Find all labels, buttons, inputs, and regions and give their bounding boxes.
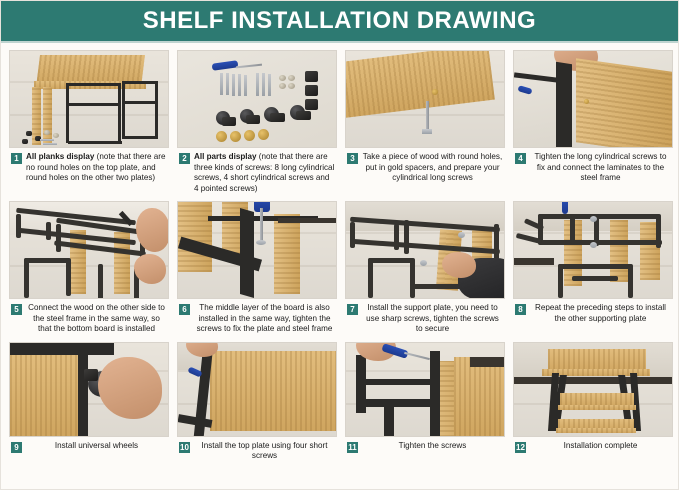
step-caption-5: 5 Connect the wood on the other side to … (9, 299, 169, 335)
step-caption-6: 6 The middle layer of the board is also … (177, 299, 337, 335)
step-photo-9 (9, 342, 169, 437)
step-text: The middle layer of the board is also in… (194, 303, 335, 335)
step-card-1: 1 All planks display (note that there ar… (9, 50, 169, 194)
step-caption-1: 1 All planks display (note that there ar… (9, 148, 169, 184)
step-card-3: 3 Take a piece of wood with round holes,… (345, 50, 505, 194)
step-number-badge: 9 (11, 442, 22, 453)
step-text: All planks display (note that there are … (26, 152, 167, 184)
instruction-sheet: SHELF INSTALLATION DRAWING (0, 0, 679, 490)
step-card-6: 6 The middle layer of the board is also … (177, 201, 337, 335)
step-number-badge: 7 (347, 304, 358, 315)
step-photo-1 (9, 50, 169, 148)
step-text: Install universal wheels (26, 441, 167, 452)
step-number-badge: 5 (11, 304, 22, 315)
step-caption-11: 11 Tighten the screws (345, 437, 505, 453)
step-caption-8: 8 Repeat the preceding steps to install … (513, 299, 673, 324)
step-card-2: 2 All parts display (note that there are… (177, 50, 337, 194)
step-photo-7 (345, 201, 505, 299)
step-photo-2 (177, 50, 337, 148)
step-photo-3 (345, 50, 505, 148)
step-text: Installation complete (530, 441, 671, 452)
step-number-badge: 1 (11, 153, 22, 164)
step-text: Install the support plate, you need to u… (362, 303, 503, 335)
step-card-10: 10 Install the top plate using four shor… (177, 342, 337, 462)
step-photo-11 (345, 342, 505, 437)
step-number-badge: 6 (179, 304, 190, 315)
step-caption-7: 7 Install the support plate, you need to… (345, 299, 505, 335)
step-text: Connect the wood on the other side to th… (26, 303, 167, 335)
steps-row-3: 9 Install universal wheels 10 Insta (9, 342, 670, 462)
step-photo-6 (177, 201, 337, 299)
step-card-8: 8 Repeat the preceding steps to install … (513, 201, 673, 335)
step-caption-12: 12 Installation complete (513, 437, 673, 453)
step-text: All parts display (note that there are t… (194, 152, 335, 194)
step-number-badge: 3 (347, 153, 358, 164)
header-banner: SHELF INSTALLATION DRAWING (1, 1, 678, 43)
step-photo-5 (9, 201, 169, 299)
step-card-9: 9 Install universal wheels (9, 342, 169, 462)
step-photo-8 (513, 201, 673, 299)
step-number-badge: 10 (179, 442, 190, 453)
step-card-5: 5 Connect the wood on the other side to … (9, 201, 169, 335)
step-text: Tighten the screws (362, 441, 503, 452)
step-caption-10: 10 Install the top plate using four shor… (177, 437, 337, 462)
step-text: Repeat the preceding steps to install th… (530, 303, 671, 324)
step-card-4: 4 Tighten the long cylindrical screws to… (513, 50, 673, 194)
step-card-12: 12 Installation complete (513, 342, 673, 462)
step-text: Install the top plate using four short s… (194, 441, 335, 462)
step-number-badge: 11 (347, 442, 358, 453)
step-caption-4: 4 Tighten the long cylindrical screws to… (513, 148, 673, 184)
steps-row-1: 1 All planks display (note that there ar… (9, 50, 670, 194)
step-photo-4 (513, 50, 673, 148)
step-number-badge: 8 (515, 304, 526, 315)
step-number-badge: 2 (179, 153, 190, 164)
step-card-7: 7 Install the support plate, you need to… (345, 201, 505, 335)
step-caption-3: 3 Take a piece of wood with round holes,… (345, 148, 505, 184)
step-photo-10 (177, 342, 337, 437)
step-caption-9: 9 Install universal wheels (9, 437, 169, 453)
step-photo-12 (513, 342, 673, 437)
steps-grid: 1 All planks display (note that there ar… (1, 43, 678, 462)
page-title: SHELF INSTALLATION DRAWING (143, 7, 536, 35)
steps-row-2: 5 Connect the wood on the other side to … (9, 201, 670, 335)
step-card-11: 11 Tighten the screws (345, 342, 505, 462)
step-text: Take a piece of wood with round holes, p… (362, 152, 503, 184)
step-number-badge: 12 (515, 442, 526, 453)
step-number-badge: 4 (515, 153, 526, 164)
step-text: Tighten the long cylindrical screws to f… (530, 152, 671, 184)
step-caption-2: 2 All parts display (note that there are… (177, 148, 337, 194)
